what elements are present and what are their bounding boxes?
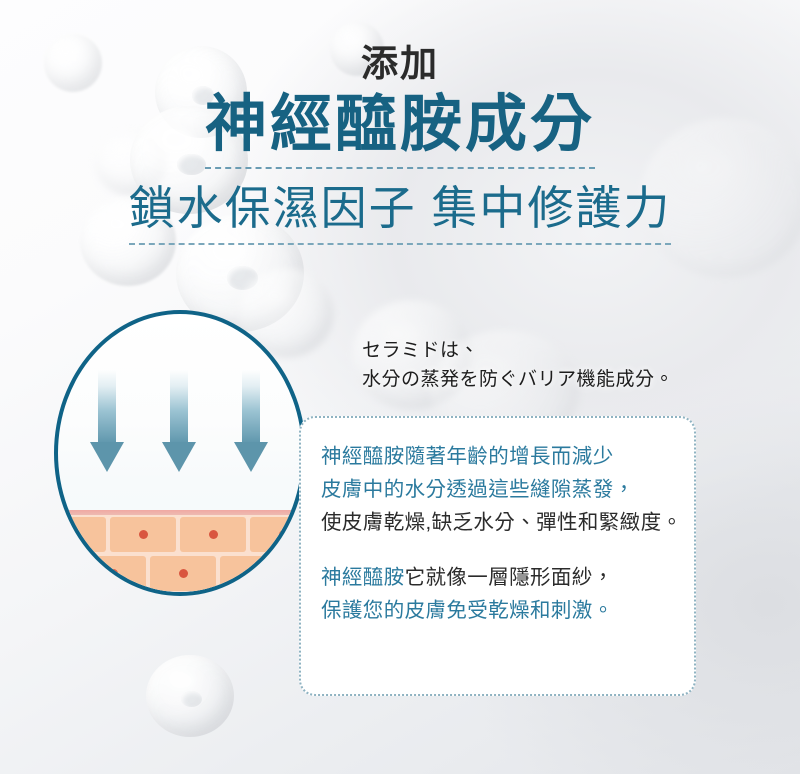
brick-row	[58, 517, 302, 552]
brick-cell	[110, 517, 176, 552]
bubble-icon	[146, 655, 234, 737]
card-line: 使皮膚乾燥,缺乏水分、彈性和緊緻度。	[321, 506, 674, 539]
card-text-teal: 皮膚中的水分透過這些縫隙蒸發，	[321, 478, 635, 501]
japanese-caption: セラミドは、 水分の蒸発を防ぐバリア機能成分。	[362, 336, 674, 395]
header-block: 添加 神經醯胺成分 鎖水保濕因子 集中修護力	[0, 44, 800, 245]
card-text-dark: 使皮膚乾燥,缺乏水分、彈性和緊緻度。	[321, 511, 682, 534]
dermis-wave-layer	[58, 586, 306, 596]
paragraph-spacer	[321, 539, 674, 561]
card-text-teal: 神經醯胺	[321, 566, 405, 589]
card-line: 保護您的皮膚免受乾燥和刺激。	[321, 594, 674, 627]
page-subtitle: 鎖水保濕因子 集中修護力	[129, 181, 672, 245]
poster-canvas: 添加 神經醯胺成分 鎖水保濕因子 集中修護力 セラミドは、 水分の蒸発を防ぐバリ…	[0, 0, 800, 774]
brick-cell	[180, 517, 246, 552]
brick-cell	[250, 517, 306, 552]
brick-cell	[54, 517, 106, 552]
card-text-dark: 它就像一層隱形面紗，	[405, 566, 614, 589]
down-arrow-icon	[234, 370, 268, 480]
corneocyte-brick-layer	[58, 515, 302, 593]
card-text-teal: 保護您的皮膚免受乾燥和刺激。	[321, 599, 614, 622]
skin-cross-section-diagram	[54, 310, 306, 596]
card-line: 神經醯胺它就像一層隱形面紗，	[321, 561, 674, 594]
down-arrow-icon	[162, 370, 196, 480]
card-text-teal: 神經醯胺隨著年齡的增長而減少	[321, 445, 614, 468]
card-line: 皮膚中的水分透過這些縫隙蒸發，	[321, 473, 674, 506]
down-arrow-icon	[90, 370, 124, 480]
page-kicker: 添加	[0, 44, 800, 85]
japanese-caption-line-2: 水分の蒸発を防ぐバリア機能成分。	[362, 365, 674, 394]
info-text-card: 神經醯胺隨著年齡的增長而減少 皮膚中的水分透過這些縫隙蒸發， 使皮膚乾燥,缺乏水…	[299, 416, 696, 696]
card-line: 神經醯胺隨著年齡的增長而減少	[321, 440, 674, 473]
page-title: 神經醯胺成分	[205, 89, 595, 169]
japanese-caption-line-1: セラミドは、	[362, 336, 674, 365]
